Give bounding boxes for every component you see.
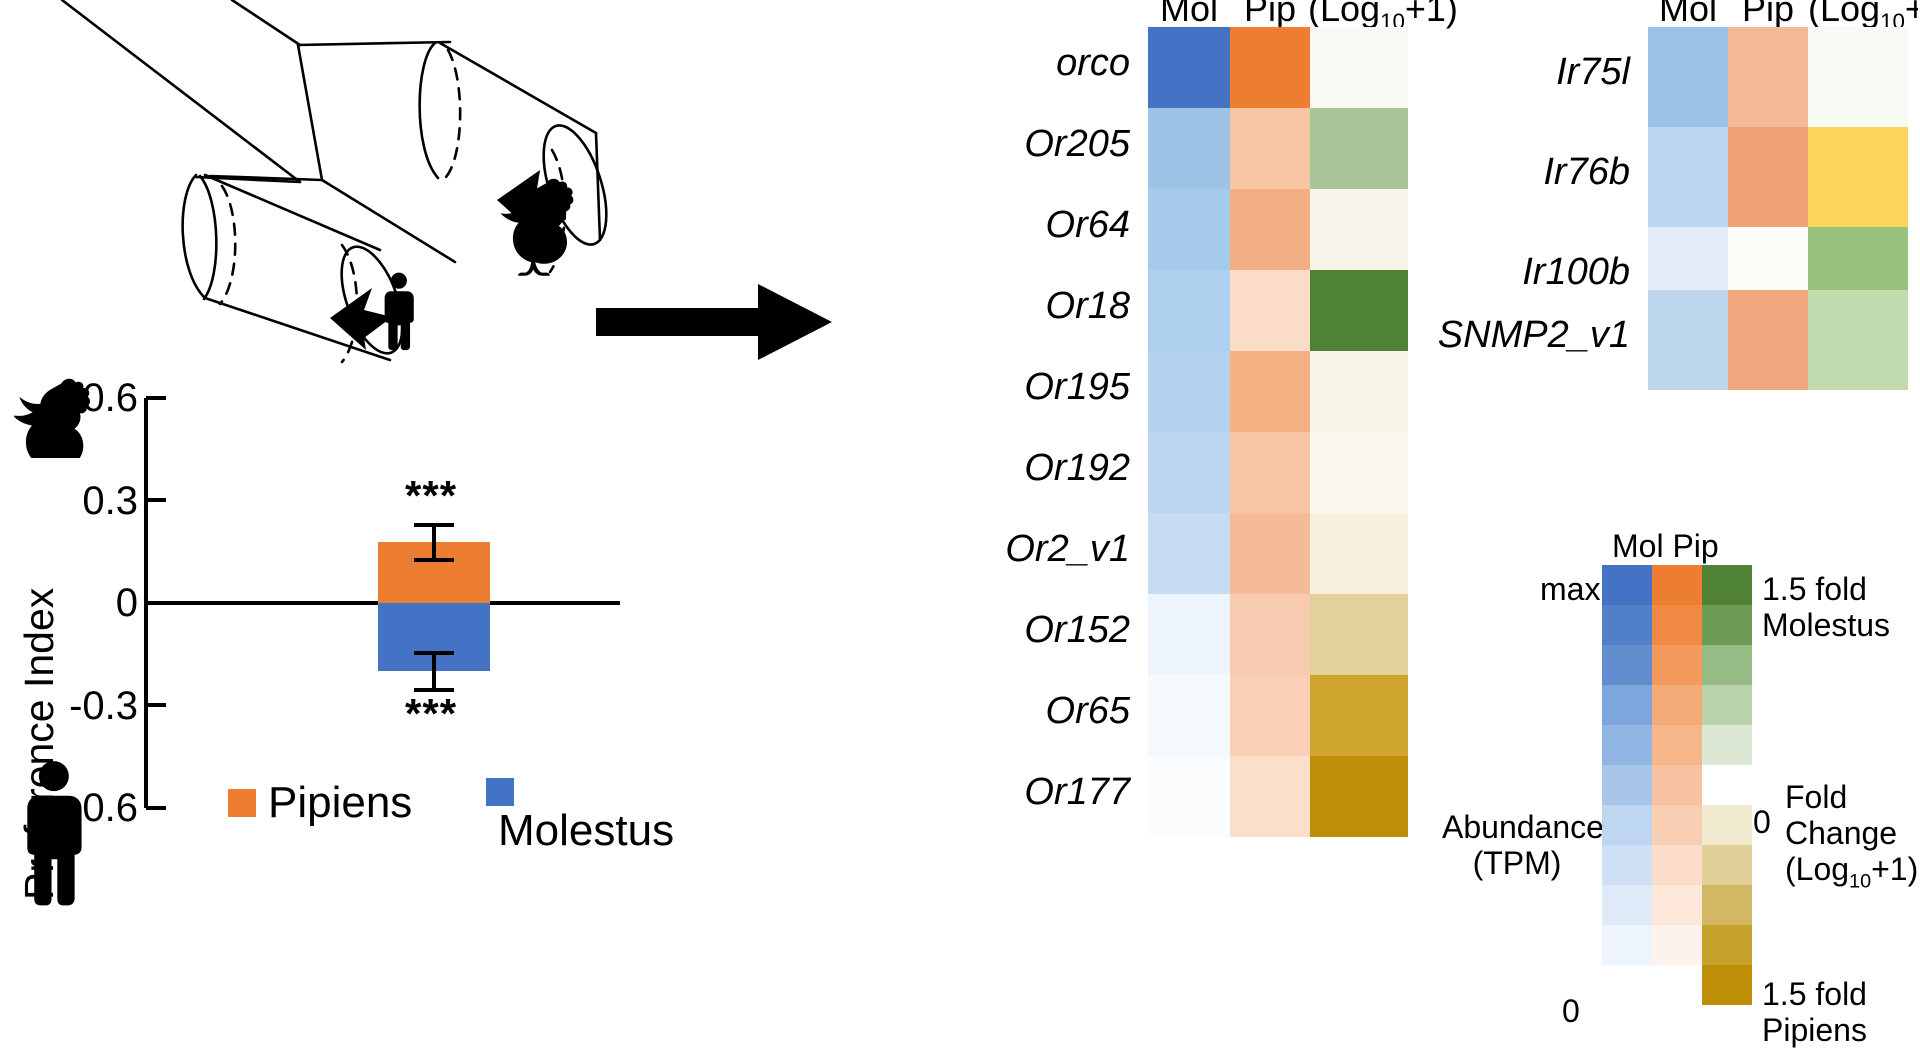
ir-cell-Ir75l-pip	[1728, 27, 1808, 127]
ir-gene-label-SNMP2_v1: SNMP2_v1	[1320, 314, 1630, 357]
legend-pip-swatch-3	[1652, 685, 1702, 725]
legend-fold-bottom: 1.5 fold Pipiens	[1762, 977, 1867, 1049]
legend-mol-swatch-8	[1602, 885, 1652, 925]
ir-col-header-pip: Pip	[1728, 0, 1808, 30]
legend-fold-swatch-6	[1702, 805, 1752, 845]
legend-pip-swatch-5	[1652, 765, 1702, 805]
ir-cell-Ir76b-fc	[1808, 127, 1908, 227]
legend-pip-swatch-0	[1652, 565, 1702, 605]
legend-fold-zero: 0	[1753, 805, 1771, 841]
legend-pip-swatch-2	[1652, 645, 1702, 685]
legend-pip-swatch-1	[1652, 605, 1702, 645]
legend-fold-swatch-8	[1702, 885, 1752, 925]
ir-cell-Ir76b-pip	[1728, 127, 1808, 227]
ir-col-header-mol: Mol	[1648, 0, 1728, 30]
legend-title: Mol Pip	[1612, 528, 1719, 565]
legend-fold-label: Fold Change (Log10+1)	[1785, 780, 1918, 892]
legend-fold-line1: Fold	[1785, 779, 1847, 815]
ir-cell-SNMP2_v1-pip	[1728, 290, 1808, 390]
legend-fold-swatch-5	[1702, 765, 1752, 805]
legend-fold-top: 1.5 fold Molestus	[1762, 572, 1890, 644]
legend-fold-bottom-line2: Pipiens	[1762, 1012, 1867, 1048]
legend-fold-swatch-0	[1702, 565, 1752, 605]
legend-mol-swatch-6	[1602, 805, 1652, 845]
legend-pip-swatch-6	[1652, 805, 1702, 845]
ir-cell-Ir76b-mol	[1648, 127, 1728, 227]
legend-fold-swatch-3	[1702, 685, 1752, 725]
ir-cell-Ir75l-mol	[1648, 27, 1728, 127]
legend-pip-swatch-8	[1652, 885, 1702, 925]
legend-mol-swatch-4	[1602, 725, 1652, 765]
legend-mol-swatch-9	[1602, 925, 1652, 965]
legend-fold-swatch-7	[1702, 845, 1752, 885]
legend-fold-swatch-9	[1702, 925, 1752, 965]
legend-fold-top-line2: Molestus	[1762, 607, 1890, 643]
legend-fold-line3: (Log10+1)	[1785, 851, 1918, 887]
legend-abundance-line1: Abundance	[1442, 809, 1604, 845]
legend-mol-swatch-2	[1602, 645, 1652, 685]
legend-fold-swatch-2	[1702, 645, 1752, 685]
legend-abundance-min: 0	[1562, 994, 1580, 1030]
ir-cell-SNMP2_v1-mol	[1648, 290, 1728, 390]
legend-mol-swatch-3	[1602, 685, 1652, 725]
legend-abundance-line2: (TPM)	[1473, 845, 1562, 881]
ir-cell-Ir75l-fc	[1808, 27, 1908, 127]
ir-gene-label-Ir100b: Ir100b	[1380, 251, 1630, 294]
legend-fold-swatch-10	[1702, 965, 1752, 1005]
legend-fold-top-line1: 1.5 fold	[1762, 571, 1867, 607]
legend-mol-swatch-5	[1602, 765, 1652, 805]
ir-gene-label-Ir75l: Ir75l	[1380, 51, 1630, 94]
legend-pip-swatch-9	[1652, 925, 1702, 965]
legend-abundance-label: Abundance (TPM)	[1442, 810, 1592, 882]
legend-fold-line2: Change	[1785, 815, 1897, 851]
legend-pip-swatch-4	[1652, 725, 1702, 765]
legend-fold-swatch-4	[1702, 725, 1752, 765]
heatmap-legend: Mol Pip max 0 Abundance (TPM) 1.5 fold M…	[1440, 520, 1920, 1024]
ir-cell-SNMP2_v1-fc	[1808, 290, 1908, 390]
legend-abundance-max: max	[1540, 572, 1600, 608]
legend-fold-swatch-1	[1702, 605, 1752, 645]
legend-fold-bottom-line1: 1.5 fold	[1762, 976, 1867, 1012]
legend-pip-swatch-7	[1652, 845, 1702, 885]
legend-mol-swatch-7	[1602, 845, 1652, 885]
ir-gene-label-Ir76b: Ir76b	[1380, 151, 1630, 194]
legend-mol-swatch-0	[1602, 565, 1652, 605]
legend-mol-swatch-1	[1602, 605, 1652, 645]
